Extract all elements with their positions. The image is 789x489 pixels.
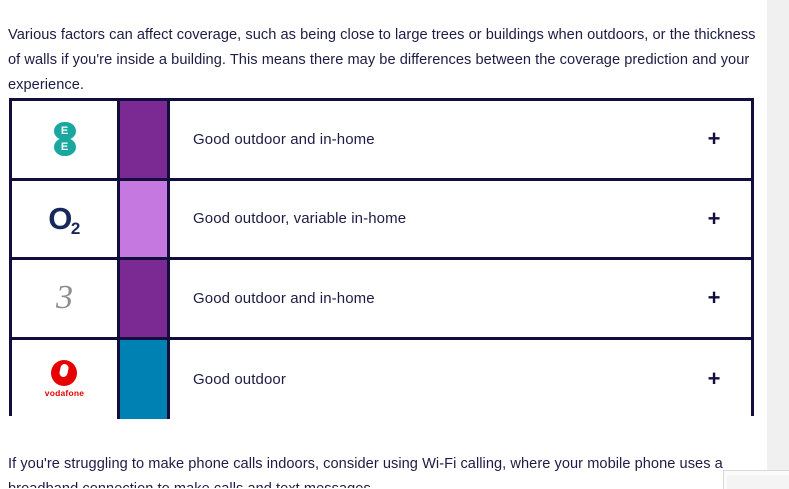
o2-logo-letter: O xyxy=(48,201,72,236)
vodafone-wordmark: vodafone xyxy=(45,388,84,398)
page-content: Various factors can affect coverage, suc… xyxy=(0,0,766,488)
page-right-gutter xyxy=(766,0,789,488)
coverage-description-three: Good outdoor and in-home xyxy=(193,290,375,307)
vodafone-speechmark-icon xyxy=(51,360,77,386)
operator-logo-cell-three: 3 xyxy=(12,260,120,337)
coverage-description-ee: Good outdoor and in-home xyxy=(193,131,375,148)
o2-logo-icon: O2 xyxy=(48,203,81,234)
coverage-swatch-vodafone xyxy=(120,340,170,420)
bottom-right-overlay-panel xyxy=(723,470,789,489)
ee-logo-bottom-letter: E xyxy=(54,138,76,156)
table-row[interactable]: vodafone Good outdoor + xyxy=(12,340,751,420)
page-edge-divider xyxy=(766,0,767,488)
plus-icon: + xyxy=(708,128,721,150)
coverage-description-vodafone: Good outdoor xyxy=(193,371,286,388)
three-logo-icon: 3 xyxy=(56,281,73,315)
coverage-swatch-ee xyxy=(120,101,170,178)
plus-icon: + xyxy=(708,208,721,230)
vodafone-logo-icon: vodafone xyxy=(45,360,84,398)
expand-row-button-vodafone[interactable]: + xyxy=(677,340,751,420)
ee-logo-icon: E E xyxy=(54,122,76,156)
intro-paragraph: Various factors can affect coverage, suc… xyxy=(8,23,756,98)
plus-icon: + xyxy=(708,368,721,390)
coverage-description-cell-ee: Good outdoor and in-home xyxy=(170,101,677,178)
expand-row-button-three[interactable]: + xyxy=(677,260,751,337)
coverage-table: E E Good outdoor and in-home + O2 Good o… xyxy=(9,98,754,416)
coverage-swatch-o2 xyxy=(120,181,170,258)
coverage-description-cell-vodafone: Good outdoor xyxy=(170,340,677,420)
outro-paragraph: If you're struggling to make phone calls… xyxy=(8,452,748,488)
table-row[interactable]: 3 Good outdoor and in-home + xyxy=(12,260,751,340)
expand-row-button-ee[interactable]: + xyxy=(677,101,751,178)
coverage-description-cell-o2: Good outdoor, variable in-home xyxy=(170,181,677,258)
operator-logo-cell-vodafone: vodafone xyxy=(12,340,120,420)
coverage-description-cell-three: Good outdoor and in-home xyxy=(170,260,677,337)
operator-logo-cell-ee: E E xyxy=(12,101,120,178)
coverage-swatch-three xyxy=(120,260,170,337)
expand-row-button-o2[interactable]: + xyxy=(677,181,751,258)
coverage-description-o2: Good outdoor, variable in-home xyxy=(193,210,406,227)
table-row[interactable]: E E Good outdoor and in-home + xyxy=(12,101,751,181)
operator-logo-cell-o2: O2 xyxy=(12,181,120,258)
table-row[interactable]: O2 Good outdoor, variable in-home + xyxy=(12,181,751,261)
plus-icon: + xyxy=(708,287,721,309)
o2-logo-subscript: 2 xyxy=(71,219,80,238)
bottom-right-overlay-fill xyxy=(727,475,789,489)
